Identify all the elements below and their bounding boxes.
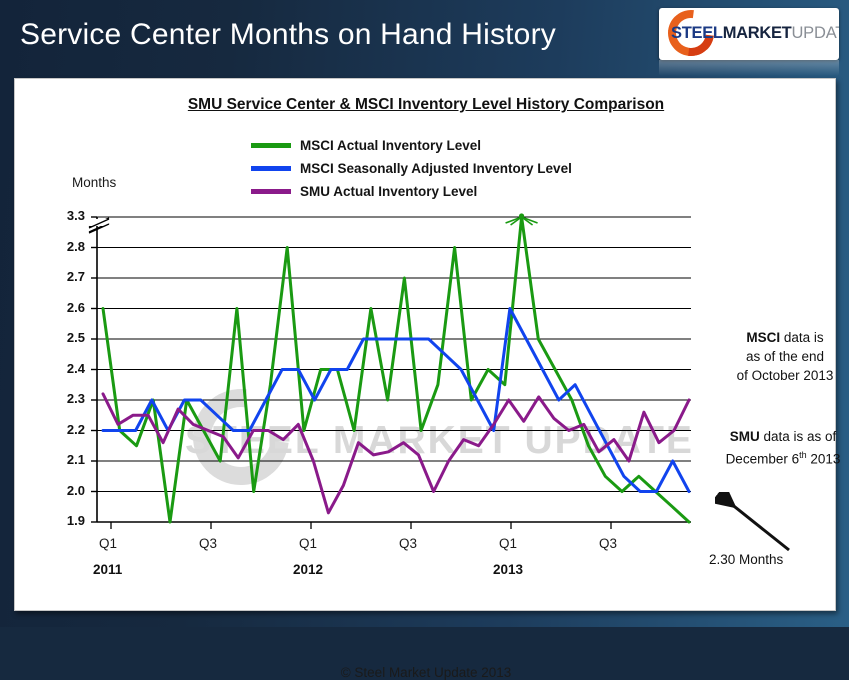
y-tick-label: 2.7 <box>45 269 85 284</box>
note-msci-bold: MSCI <box>746 330 780 345</box>
logo-word-steel: STEEL <box>671 24 723 42</box>
x-tick-label: Q1 <box>99 536 117 551</box>
x-tick-label: Q3 <box>599 536 617 551</box>
slide-header: Service Center Months on Hand History ST… <box>0 0 849 78</box>
y-tick-label: 2.4 <box>45 361 85 376</box>
note-msci-line3: of October 2013 <box>737 368 834 383</box>
copyright-footer: © Steel Market Update 2013 <box>15 665 837 680</box>
note-msci-line2: as of the end <box>746 349 824 364</box>
note-msci-rest: data is <box>780 330 824 345</box>
callout-value: 2.30 Months <box>709 552 783 567</box>
note-smu-bold: SMU <box>730 429 760 444</box>
x-year-label: 2011 <box>93 562 122 577</box>
note-smu-rest: data is as of <box>760 429 837 444</box>
logo-reflection <box>659 60 839 76</box>
y-tick-label: 1.9 <box>45 513 85 528</box>
note-msci: MSCI data is as of the end of October 20… <box>705 328 849 385</box>
y-tick-label: 3.3 <box>45 208 85 223</box>
slide: Service Center Months on Hand History ST… <box>0 0 849 627</box>
y-tick-label: 2.3 <box>45 391 85 406</box>
x-year-label: 2012 <box>293 562 323 577</box>
steel-market-update-logo: STEELMARKETUPDATE <box>659 8 839 60</box>
page-title: Service Center Months on Hand History <box>20 18 556 52</box>
callout-arrow-icon <box>715 492 799 558</box>
note-smu-date-a: December 6 <box>726 452 800 467</box>
y-tick-label: 2.0 <box>45 483 85 498</box>
x-tick-label: Q1 <box>299 536 317 551</box>
x-year-label: 2013 <box>493 562 523 577</box>
x-tick-label: Q3 <box>199 536 217 551</box>
logo-word-update: UPDATE <box>791 24 839 42</box>
logo-text: STEELMARKETUPDATE <box>671 23 839 43</box>
x-tick-label: Q3 <box>399 536 417 551</box>
chart-panel: SMU Service Center & MSCI Inventory Leve… <box>14 78 836 611</box>
note-smu-date-b: 2013 <box>807 452 841 467</box>
y-tick-label: 2.8 <box>45 239 85 254</box>
y-tick-label: 2.2 <box>45 422 85 437</box>
y-tick-label: 2.5 <box>45 330 85 345</box>
logo-word-market: MARKET <box>723 24 792 42</box>
x-tick-label: Q1 <box>499 536 517 551</box>
note-smu-date-sup: th <box>799 450 807 460</box>
y-tick-label: 2.6 <box>45 300 85 315</box>
note-smu: SMU data is as of December 6th 2013 <box>703 427 849 469</box>
y-tick-label: 2.1 <box>45 452 85 467</box>
